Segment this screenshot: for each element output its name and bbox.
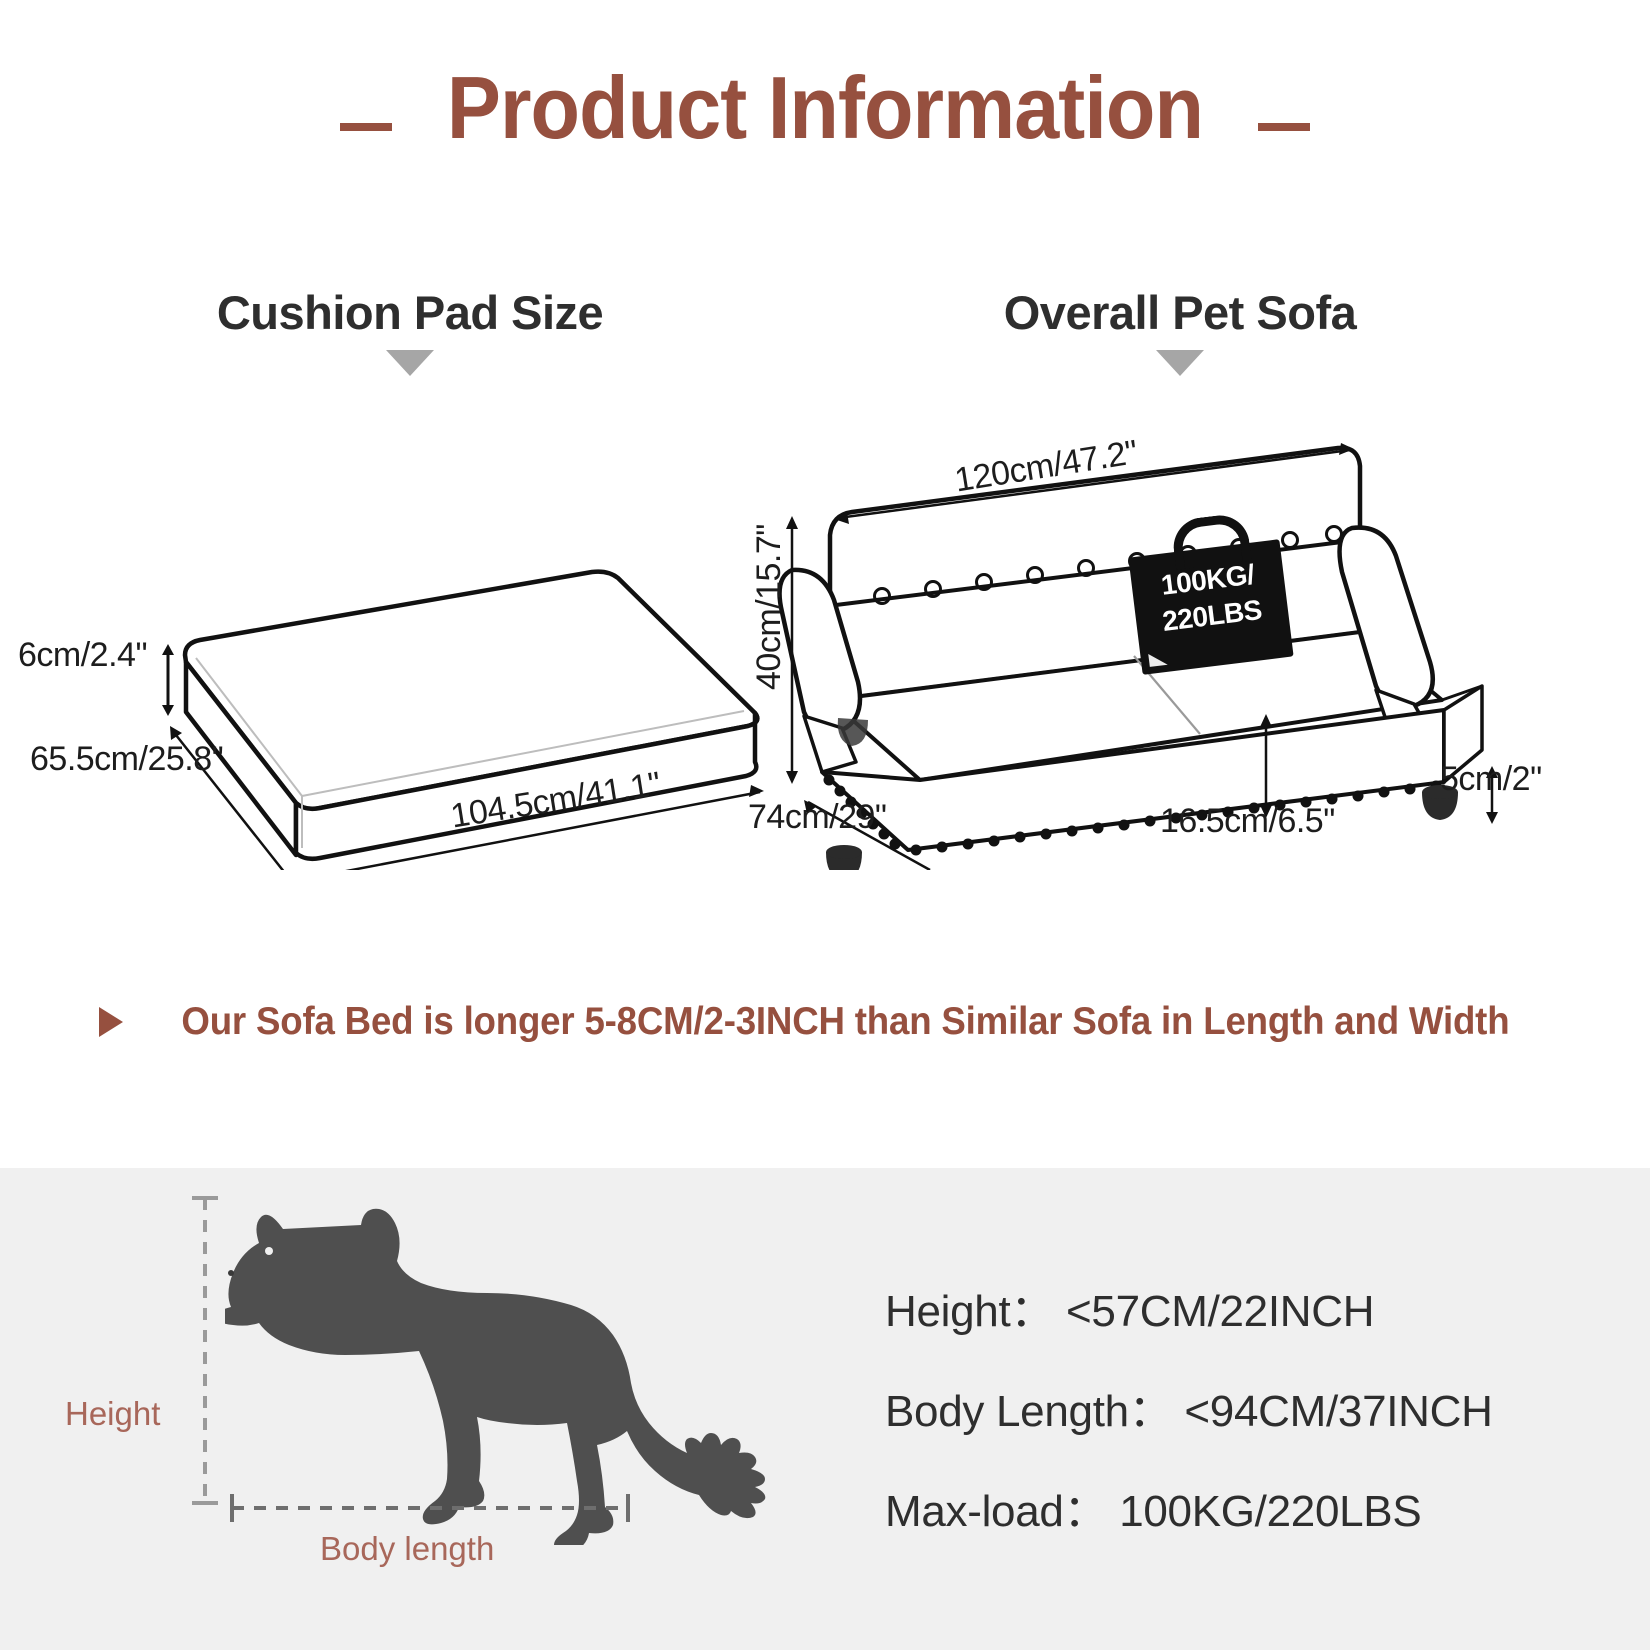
max-load-tag-line1: 100KG/ [1159, 559, 1256, 601]
cushion-pad-svg [0, 400, 790, 870]
sofa-height-label: 40cm/15.7" [750, 524, 789, 690]
tag-corner-mark [1148, 652, 1167, 667]
page-title-text: Product Information [447, 62, 1203, 154]
chevron-down-icon [386, 350, 434, 376]
page-title: Product Information [0, 62, 1650, 154]
dog-height-label: Height [65, 1395, 160, 1433]
spec-max-load: Max-load： 100KG/220LBS [885, 1475, 1421, 1539]
cushion-section-heading: Cushion Pad Size [110, 285, 710, 340]
dog-body-length-label: Body length [320, 1530, 494, 1568]
max-load-tag-line2: 220LBS [1161, 594, 1264, 637]
comparison-banner: Our Sofa Bed is longer 5-8CM/2-3INCH tha… [0, 1000, 1650, 1044]
cushion-pad-diagram: 6cm/2.4" 65.5cm/25.8" 104.5cm/41.1" [0, 400, 790, 870]
title-dash-right [1258, 123, 1310, 131]
dog-silhouette-diagram [225, 1195, 785, 1545]
spec-height: Height： <57CM/22INCH [885, 1275, 1374, 1339]
cushion-thickness-label: 6cm/2.4" [18, 636, 147, 675]
title-dash-left [340, 123, 392, 131]
play-triangle-icon [99, 1007, 123, 1037]
max-load-tag: 100KG/ 220LBS [1128, 539, 1293, 675]
cushion-depth-label: 65.5cm/25.8" [30, 740, 223, 779]
spec-body-length: Body Length： <94CM/37INCH [885, 1375, 1493, 1439]
dog-silhouette-svg [225, 1195, 785, 1545]
product-information-infographic: Product Information Cushion Pad Size Ove… [0, 0, 1650, 1650]
sofa-leg-height-label: 5cm/2" [1440, 760, 1542, 799]
chevron-down-icon [1156, 350, 1204, 376]
comparison-banner-text: Our Sofa Bed is longer 5-8CM/2-3INCH tha… [181, 1000, 1509, 1044]
sofa-depth-label: 74cm/29" [748, 798, 886, 837]
sofa-section-heading: Overall Pet Sofa [880, 285, 1480, 340]
sofa-base-height-label: 16.5cm/6.5" [1160, 802, 1335, 841]
